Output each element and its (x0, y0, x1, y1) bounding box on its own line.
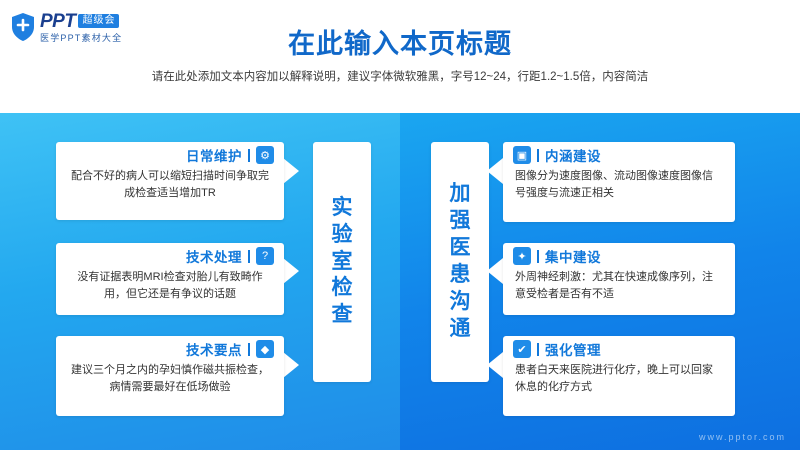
divider (537, 149, 539, 162)
divider (248, 149, 250, 162)
left-card-1-header: 日常维护 ⚙ (56, 142, 284, 168)
left-card-1-body: 配合不好的病人可以缩短扫描时间争取完成检查适当增加TR (56, 168, 284, 202)
arrow-left-card-1 (283, 158, 299, 184)
left-card-2-body: 没有证据表明MRI检查对胎儿有致畸作用，但它还是有争议的话题 (56, 269, 284, 303)
left-card-2-header: 技术处理 ? (56, 243, 284, 269)
arrow-right-card-3 (487, 352, 503, 378)
arrow-right-card-1 (487, 158, 503, 184)
page-title: 在此输入本页标题 (0, 22, 800, 61)
right-card-2-header: ✦ 集中建设 (503, 243, 735, 269)
right-center-char-5: 通 (450, 316, 471, 343)
right-card-3[interactable]: ✔ 强化管理 患者白天来医院进行化疗，晚上可以回家休息的化疗方式 (503, 336, 735, 416)
left-center-char-3: 检 (332, 275, 353, 302)
left-center-char-2: 室 (332, 249, 353, 276)
left-card-1-title: 日常维护 (186, 145, 242, 165)
right-card-3-title: 强化管理 (545, 339, 601, 359)
nerve-icon: ✦ (513, 247, 531, 265)
right-center-char-3: 患 (450, 262, 471, 289)
shield-check-icon: ✔ (513, 340, 531, 358)
divider (248, 343, 250, 356)
syringe-icon: ⚙ (256, 146, 274, 164)
right-center-char-1: 强 (450, 208, 471, 235)
left-card-2[interactable]: 技术处理 ? 没有证据表明MRI检查对胎儿有致畸作用，但它还是有争议的话题 (56, 243, 284, 315)
left-card-1[interactable]: 日常维护 ⚙ 配合不好的病人可以缩短扫描时间争取完成检查适当增加TR (56, 142, 284, 220)
left-card-3-title: 技术要点 (186, 339, 242, 359)
divider (248, 250, 250, 263)
right-card-2[interactable]: ✦ 集中建设 外周神经刺激：尤其在快速成像序列，注意受检者是否有不适 (503, 243, 735, 315)
right-card-3-header: ✔ 强化管理 (503, 336, 735, 362)
right-center-char-4: 沟 (450, 289, 471, 316)
page-subtitle: 请在此处添加文本内容加以解释说明，建议字体微软雅黑，字号12~24，行距1.2~… (0, 68, 800, 84)
right-card-1-title: 内涵建设 (545, 145, 601, 165)
divider (537, 250, 539, 263)
left-card-3-body: 建议三个月之内的孕妇慎作磁共振检查，病情需要最好在低场做验 (56, 362, 284, 396)
left-center-char-4: 查 (332, 302, 353, 329)
divider (537, 343, 539, 356)
question-icon: ? (256, 247, 274, 265)
image-icon: ▣ (513, 146, 531, 164)
right-card-1[interactable]: ▣ 内涵建设 图像分为速度图像、流动图像速度图像信号强度与流速正相关 (503, 142, 735, 222)
left-center-char-0: 实 (332, 195, 353, 222)
left-card-3-header: 技术要点 ◆ (56, 336, 284, 362)
arrow-right-card-2 (487, 258, 503, 284)
right-center-char-2: 医 (450, 235, 471, 262)
slide: PPT 超级会 医学PPT素材大全 在此输入本页标题 请在此处添加文本内容加以解… (0, 0, 800, 450)
left-center-label: 实 验 室 检 查 (313, 142, 371, 382)
arrow-left-card-3 (283, 352, 299, 378)
right-card-3-body: 患者白天来医院进行化疗，晚上可以回家休息的化疗方式 (503, 362, 735, 396)
footer-url: www.pptor.com (699, 432, 786, 442)
left-card-3[interactable]: 技术要点 ◆ 建议三个月之内的孕妇慎作磁共振检查，病情需要最好在低场做验 (56, 336, 284, 416)
left-card-2-title: 技术处理 (186, 246, 242, 266)
right-card-2-title: 集中建设 (545, 246, 601, 266)
diamond-icon: ◆ (256, 340, 274, 358)
right-center-label: 加 强 医 患 沟 通 (431, 142, 489, 382)
right-card-2-body: 外周神经刺激：尤其在快速成像序列，注意受检者是否有不适 (503, 269, 735, 303)
right-card-1-header: ▣ 内涵建设 (503, 142, 735, 168)
arrow-left-card-2 (283, 258, 299, 284)
right-card-1-body: 图像分为速度图像、流动图像速度图像信号强度与流速正相关 (503, 168, 735, 202)
right-center-char-0: 加 (450, 181, 471, 208)
left-center-char-1: 验 (332, 222, 353, 249)
